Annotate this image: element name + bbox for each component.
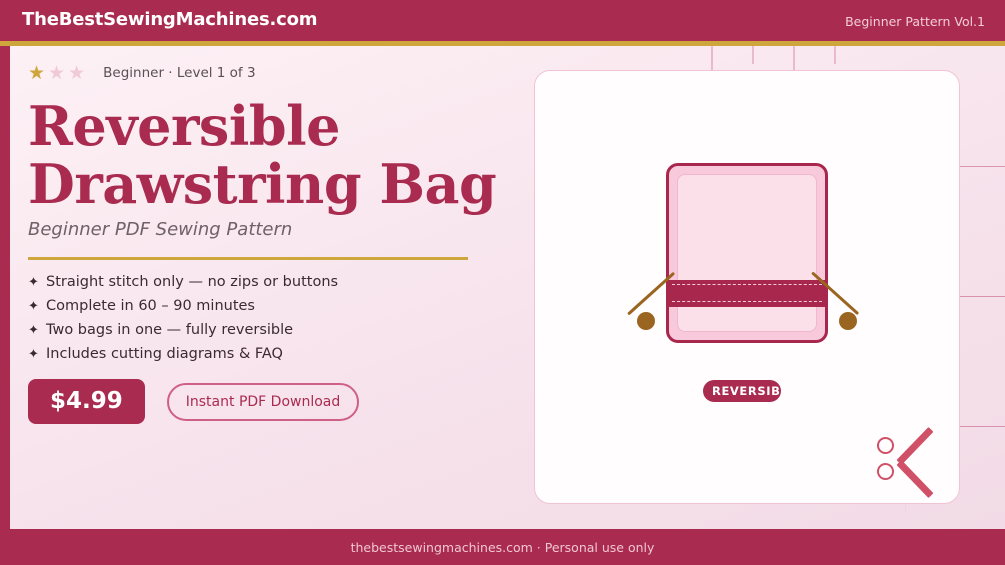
site-title: TheBestSewingMachines.com — [22, 9, 317, 30]
difficulty-rating: ★ ★ ★ Beginner · Level 1 of 3 — [28, 62, 518, 84]
casing-stitch-line — [672, 284, 822, 285]
hero-text-column: ★ ★ ★ Beginner · Level 1 of 3 Reversible… — [28, 62, 518, 424]
bag-drawstring-casing — [669, 280, 825, 307]
left-accent-stripe — [0, 46, 10, 529]
feature-label: Includes cutting diagrams & FAQ — [46, 346, 283, 362]
scissors-icon — [875, 429, 945, 491]
sparkle-bullet-icon: ✦ — [28, 347, 46, 362]
title-line-1: Reversible — [28, 97, 518, 155]
star-icon-filled: ★ — [28, 64, 45, 83]
feature-list: ✦ Straight stitch only — no zips or butt… — [28, 274, 518, 362]
list-item: ✦ Includes cutting diagrams & FAQ — [28, 346, 518, 362]
bag-inner-panel — [677, 174, 817, 332]
page-subtitle: Beginner PDF Sewing Pattern — [28, 219, 518, 240]
difficulty-label: Beginner · Level 1 of 3 — [103, 65, 255, 81]
reversible-badge-label: REVERSIBL — [712, 384, 781, 398]
scissors-blade-lower — [896, 460, 933, 498]
price-badge: $4.99 — [28, 379, 145, 424]
feature-label: Two bags in one — fully reversible — [46, 322, 293, 338]
scissors-handle-lower — [877, 463, 894, 480]
sparkle-bullet-icon: ✦ — [28, 275, 46, 290]
footer-bar: thebestsewingmachines.com · Personal use… — [0, 529, 1005, 565]
drawstring-bag-illustration — [666, 163, 828, 343]
feature-label: Straight stitch only — no zips or button… — [46, 274, 338, 290]
reversible-badge: REVERSIBL — [703, 380, 781, 402]
ruler-tick — [752, 46, 754, 64]
list-item: ✦ Complete in 60 – 90 minutes — [28, 298, 518, 314]
feature-label: Complete in 60 – 90 minutes — [46, 298, 255, 314]
header-bar: TheBestSewingMachines.com Beginner Patte… — [0, 0, 1005, 41]
scissors-handle-upper — [877, 437, 894, 454]
drawstring-bead-right — [839, 312, 857, 330]
body-area: ★ ★ ★ Beginner · Level 1 of 3 Reversible… — [0, 46, 1005, 529]
star-icon-empty: ★ — [68, 64, 85, 83]
sparkle-bullet-icon: ✦ — [28, 323, 46, 338]
casing-stitch-line — [672, 301, 822, 302]
volume-label: Beginner Pattern Vol.1 — [845, 14, 985, 29]
list-item: ✦ Straight stitch only — no zips or butt… — [28, 274, 518, 290]
ruler-tick — [834, 46, 836, 64]
pattern-promo-page: TheBestSewingMachines.com Beginner Patte… — [0, 0, 1005, 565]
gold-divider — [28, 257, 468, 260]
instant-pdf-download-button[interactable]: Instant PDF Download — [167, 383, 360, 421]
list-item: ✦ Two bags in one — fully reversible — [28, 322, 518, 338]
sparkle-bullet-icon: ✦ — [28, 299, 46, 314]
product-illustration-card: REVERSIBL — [534, 70, 960, 504]
title-line-2: Drawstring Bag — [28, 155, 518, 213]
page-title: Reversible Drawstring Bag — [28, 97, 518, 213]
star-icon-empty: ★ — [48, 64, 65, 83]
scissors-blade-upper — [896, 427, 933, 465]
drawstring-bead-left — [637, 312, 655, 330]
cta-row: $4.99 Instant PDF Download — [28, 379, 518, 424]
footer-label: thebestsewingmachines.com · Personal use… — [0, 540, 1005, 555]
